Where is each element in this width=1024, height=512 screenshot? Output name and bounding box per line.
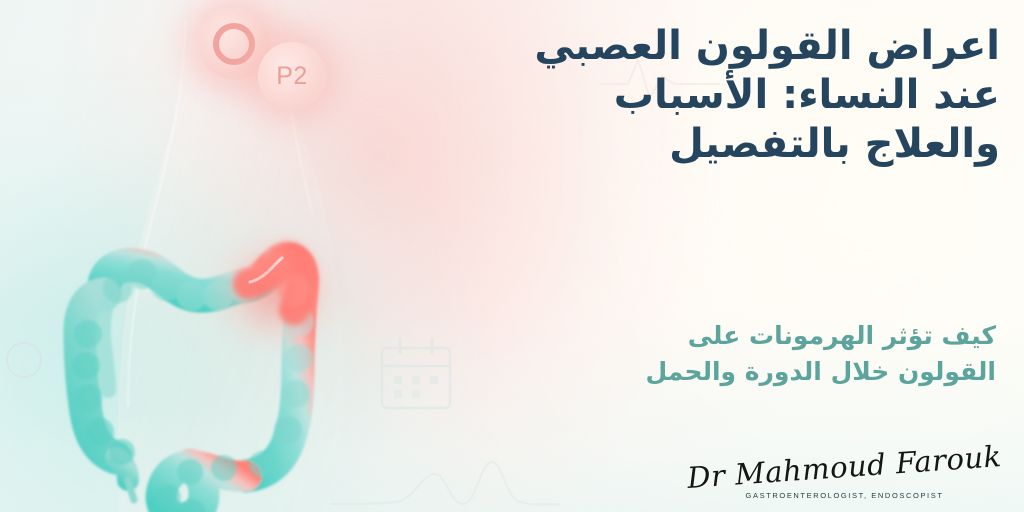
badge-p2-label: P2 — [276, 64, 308, 89]
subtitle-line-2: القولون خلال الدورة والحمل — [546, 354, 996, 390]
wave-line-icon — [330, 452, 560, 512]
title-line-1: اعراض القولون العصبي — [400, 22, 1000, 71]
calendar-icon — [370, 330, 462, 422]
page-title: اعراض القولون العصبي عند النساء: الأسباب… — [400, 22, 1000, 168]
signature-role: GASTROENTEROLOGIST, ENDOSCOPIST — [687, 491, 1002, 500]
title-line-3: والعلاج بالتفصيل — [400, 120, 1000, 169]
signature-block: Dr Mahmoud Farouk GASTROENTEROLOGIST, EN… — [687, 453, 1002, 500]
headline-block: اعراض القولون العصبي عند النساء: الأسباب… — [400, 22, 1000, 168]
badge-p2: P2 — [258, 42, 326, 110]
title-line-2: عند النساء: الأسباب — [400, 71, 1000, 120]
medical-infographic-banner: P2 — [0, 0, 1024, 512]
colon-illustration — [58, 236, 358, 512]
page-subtitle: كيف تؤثر الهرمونات على القولون خلال الدو… — [546, 318, 996, 391]
subtitle-line-1: كيف تؤثر الهرمونات على — [546, 318, 996, 354]
circle-outline-icon — [2, 330, 62, 390]
ring-icon — [213, 23, 255, 65]
